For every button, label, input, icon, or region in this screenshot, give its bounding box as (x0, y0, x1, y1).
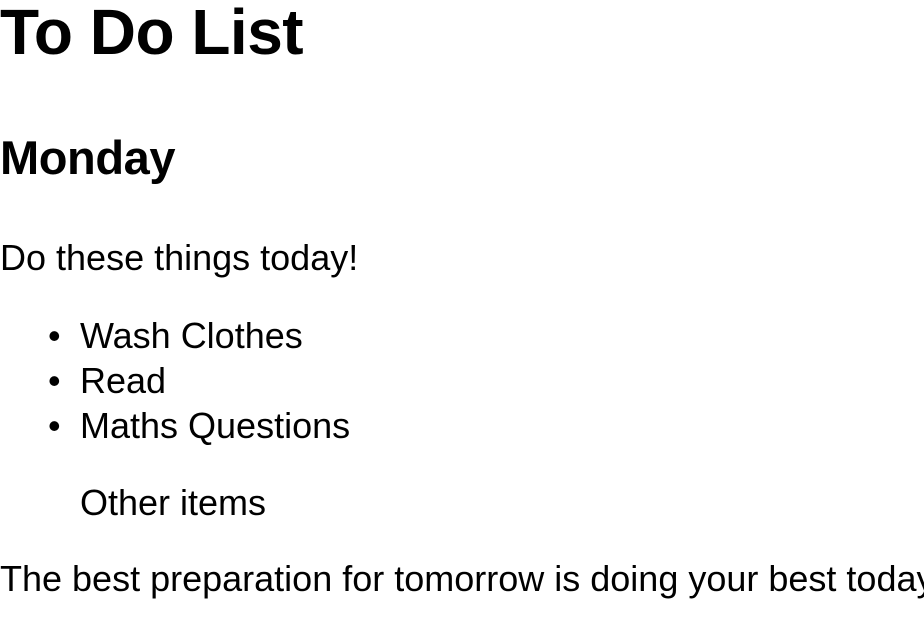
page-title: To Do List (0, 0, 303, 70)
list-item: Read (0, 358, 350, 403)
intro-paragraph: Do these things today! (0, 236, 358, 279)
list-item: Maths Questions (0, 403, 350, 448)
closing-paragraph: The best preparation for tomorrow is doi… (0, 557, 924, 600)
todo-list: Wash Clothes Read Maths Questions Other … (0, 313, 350, 525)
list-item: Wash Clothes (0, 313, 350, 358)
day-heading: Monday (0, 131, 175, 185)
document-page: To Do List Monday Do these things today!… (0, 0, 924, 640)
list-item: Other items (0, 480, 350, 525)
